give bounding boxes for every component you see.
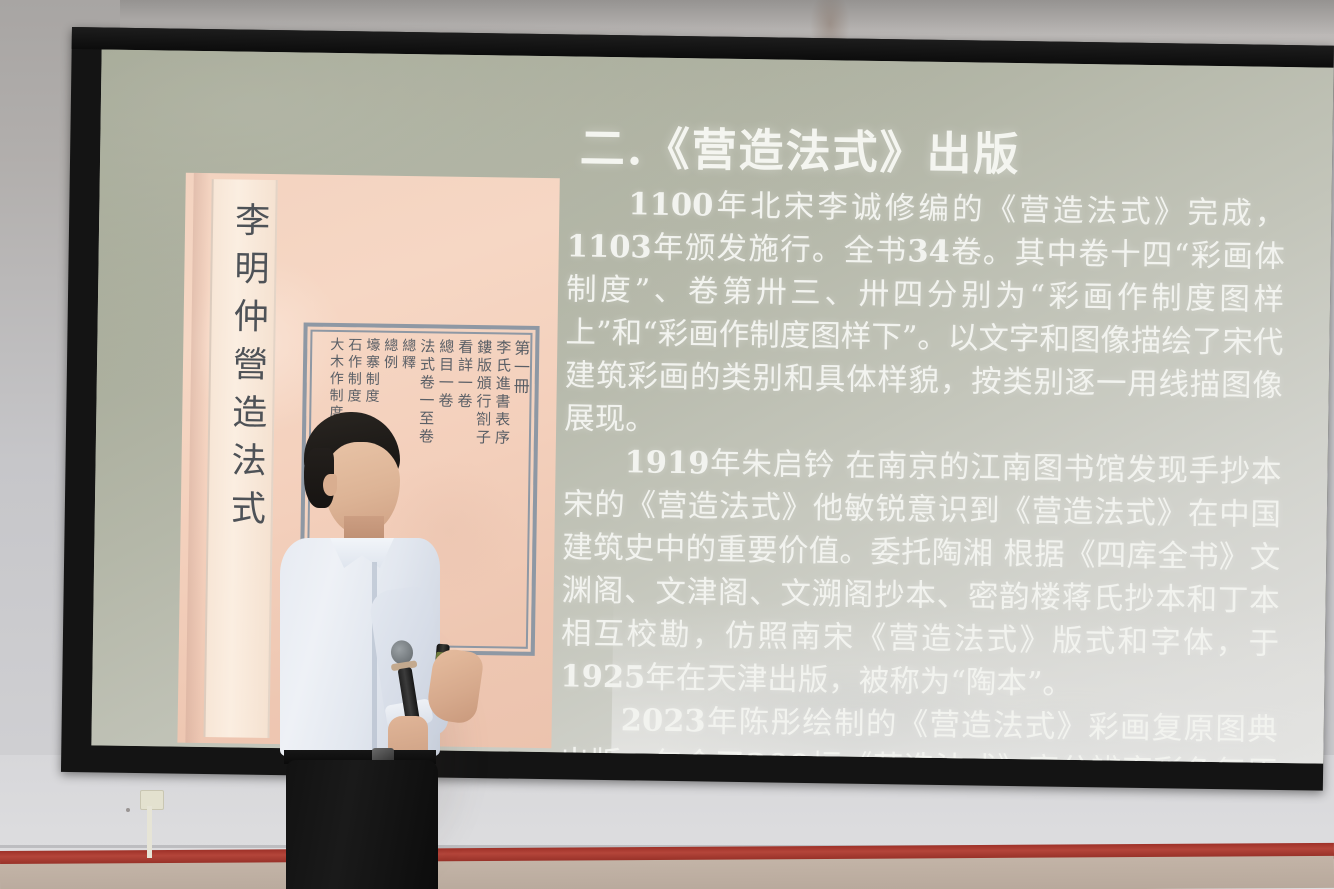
book-column: 總目一卷 [437,338,453,410]
book-column: 壕寨制度 [364,337,379,405]
slide-body-text: 1100年北宋李诚修编的《营造法式》完成，1103年颁发施行。全书34卷。其中卷… [558,182,1285,763]
book-column: 總例 [383,338,398,372]
presenter [268,412,518,889]
book-column: 石作制度 [346,337,361,405]
lecture-hall-photo: 二.《营造法式》出版 李明仲營造法式 第一冊 李氏進書表序 鏤版頒行劄子 看詳一… [0,0,1334,889]
wall-outlet-plate[interactable] [140,790,164,810]
book-column: 第一冊 [512,340,529,397]
presenter-ear [323,474,337,496]
book-spine-label: 李明仲營造法式 [203,179,277,738]
wall-blemish [126,808,130,812]
presenter-trousers [286,760,438,889]
book-column: 總釋 [401,338,416,372]
outlet-cable [147,806,152,858]
slide-paragraph-3: 2023年陈彤绘制的《营造法式》彩画复原图典出版，包含了200幅《营造法式》高分… [558,698,1278,763]
slide-title: 二.《营造法式》出版 [430,109,1171,185]
slide-paragraph-2: 1919年朱启钤 在南京的江南图书馆发现手抄本宋的《营造法式》他敏锐意识到《营造… [560,440,1282,709]
projection-screen: 二.《营造法式》出版 李明仲營造法式 第一冊 李氏進書表序 鏤版頒行劄子 看詳一… [61,27,1334,791]
slide-paragraph-1: 1100年北宋李诚修编的《营造法式》完成，1103年颁发施行。全书34卷。其中卷… [564,182,1286,451]
book-column: 看詳一卷 [456,339,472,411]
book-spine-title: 李明仲營造法式 [208,201,275,538]
book-column: 大木作制度 [328,337,343,422]
